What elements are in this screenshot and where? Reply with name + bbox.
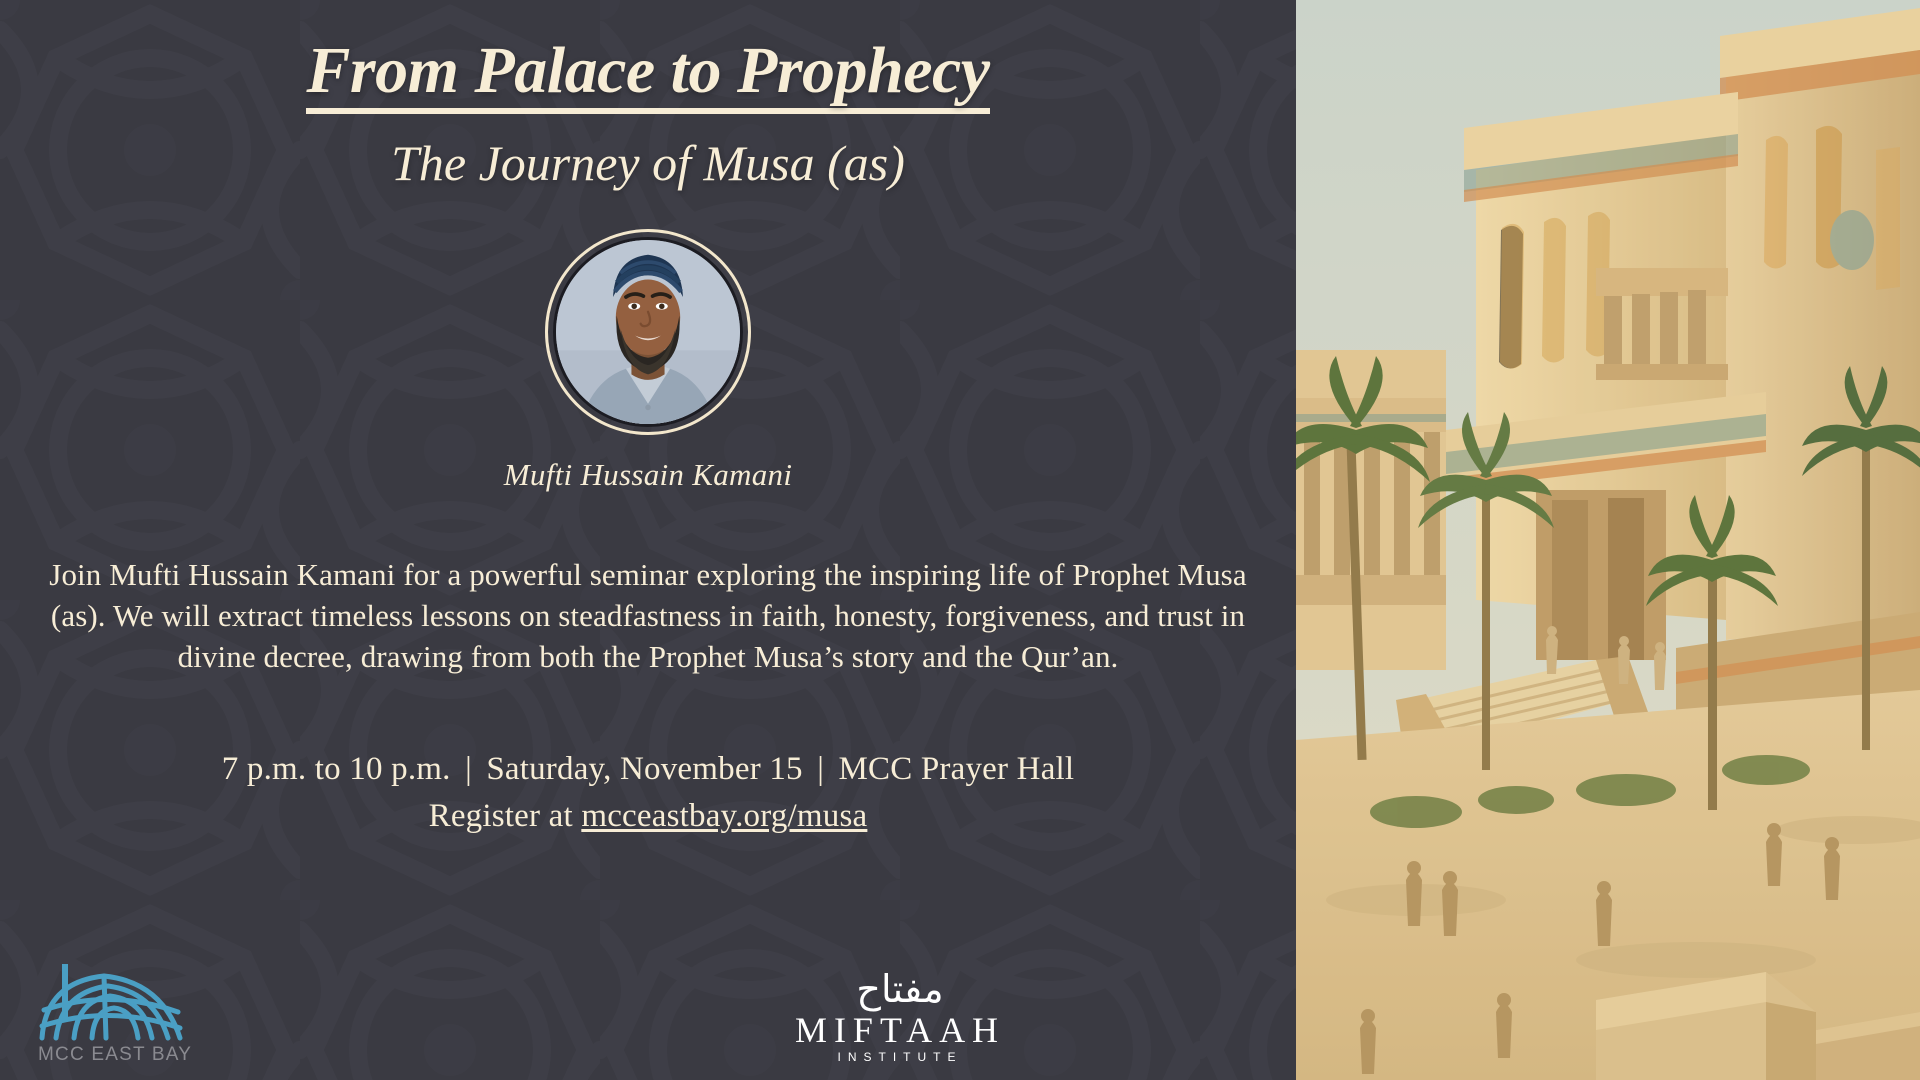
speaker-portrait [553,237,743,427]
miftaah-wordmark: MIFTAAH [795,1010,1005,1050]
event-description: Join Mufti Hussain Kamani for a powerful… [36,555,1261,678]
event-time: 7 p.m. to 10 p.m. [222,751,451,787]
event-date: Saturday, November 15 [486,751,802,787]
event-venue: MCC Prayer Hall [838,751,1074,787]
event-flyer: From Palace to Prophecy The Journey of M… [0,0,1920,1080]
egyptian-temple-artwork [1296,0,1920,1080]
miftaah-subtext: INSTITUTE [838,1050,963,1064]
event-details-line: 7 p.m. to 10 p.m. | Saturday, November 1… [34,746,1262,793]
mcc-east-bay-logo: MCC EAST BAY [34,962,206,1066]
page-subtitle: The Journey of Musa (as) [34,136,1262,191]
details-separator-2: | [811,751,830,787]
register-label: Register at [429,798,582,834]
register-line: Register at mcceastbay.org/musa [34,793,1262,840]
miftaah-arabic-text: مفتاح [856,967,943,1011]
register-link[interactable]: mcceastbay.org/musa [581,798,867,834]
speaker-portrait-frame [545,229,751,435]
flyer-content: From Palace to Prophecy The Journey of M… [0,0,1296,1080]
speaker-name: Mufti Hussain Kamani [34,457,1262,493]
miftaah-institute-logo: مفتاح MIFTAAH INSTITUTE [766,962,1034,1066]
flyer-left-panel: From Palace to Prophecy The Journey of M… [0,0,1296,1080]
details-separator-1: | [459,751,478,787]
page-title: From Palace to Prophecy [306,36,989,114]
event-details: 7 p.m. to 10 p.m. | Saturday, November 1… [34,746,1262,840]
mcc-logo-text: MCC EAST BAY [38,1044,192,1065]
